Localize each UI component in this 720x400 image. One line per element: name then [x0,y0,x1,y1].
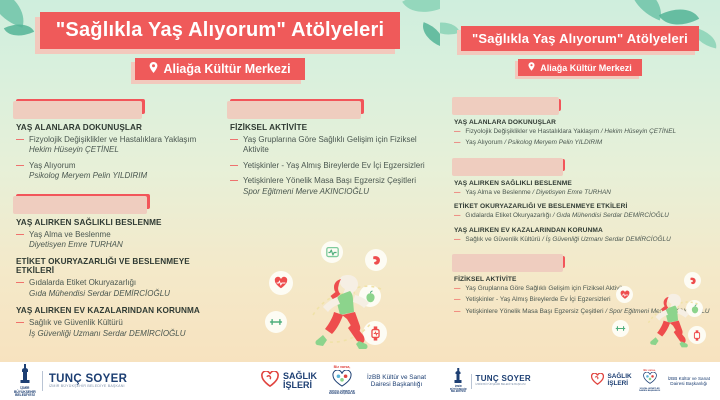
session-item: —Gıdalarda Etiket OkuryazarlığıGıda Mühe… [16,278,222,299]
session-topic: Yaş Alma ve Beslenme [465,189,530,196]
session-topic: Gıdalarda Etiket Okuryazarlığı [465,212,551,219]
poster-narrow-footer: İZMİR BÜYÜKŞEHİR BELEDİYESİ TUNÇ SOYER İ… [440,362,720,400]
session-item-body: Fizyolojik Değişiklikler ve Hastalıklara… [465,128,676,136]
session-title: ETİKET OKURYAZARLIĞI VE BESLENMEYE ETKİL… [454,203,712,210]
poster-wide: "Sağlıkla Yaş Alıyorum" Atölyeleri Aliağ… [0,0,440,400]
bullet-dash-icon: — [454,285,460,293]
location-pin-icon [149,62,158,76]
session-speaker: Spor Eğitmeni Merve AKINCIOĞLU [243,187,416,197]
kultur-line-2: Dairesi Başkanlığı [367,381,426,388]
poster-wide-title-block: "Sağlıkla Yaş Alıyorum" Atölyeleri Aliağ… [0,12,440,80]
session-speaker: İş Güvenliği Uzmanı Serdar DEMİRCİOĞLU [29,329,186,339]
session-item: —Fizyolojik Değişiklikler ve Hastalıklar… [16,135,222,156]
session-title: ETİKET OKURYAZARLIĞI VE BESLENMEYE ETKİL… [16,257,222,275]
session-topic: Yaş Alıyorum [29,161,76,170]
running-woman-illustration [255,245,440,357]
session-item-body: Yaş Alma ve Beslenme / Diyetisyen Emre T… [465,189,611,197]
session-topic: Sağlık ve Güvenlik Kültürü [465,236,540,243]
poster-pair-canvas: "Sağlıkla Yaş Alıyorum" Atölyeleri Aliağ… [0,0,720,400]
poster-title: "Sağlıkla Yaş Alıyorum" Atölyeleri [40,12,401,49]
schedule-block: 19 Aralık Salı13.30FİZİKSEL AKTİVİTE—Yaş… [230,92,440,197]
session-title: YAŞ ALIRKEN SAĞLIKLI BESLENME [454,180,712,187]
venue-label: Aliağa Kültür Merkezi [163,62,290,76]
schedule-block: 5 Aralık Salı13.30YAŞ ALANLARA DOKUNUŞLA… [454,90,712,148]
saglik-line-2: İŞLERİ [607,381,631,388]
session-item: —Yetişkinlere Yönelik Masa Başı Egzersiz… [230,176,440,197]
session-item: —Yaş Alma ve Beslenme / Diyetisyen Emre … [454,189,712,197]
bullet-dash-icon: — [454,128,460,136]
date-badge-shadow [452,158,563,176]
session-item-body: Fizyolojik Değişiklikler ve Hastalıklara… [29,135,196,156]
mayor-block: TUNÇ SOYER İZMİR BÜYÜKŞEHİR BELEDİYE BAŞ… [476,375,531,386]
clock-tower-icon [20,364,29,386]
session-item-body: Yetişkinlere Yönelik Masa Başı Egzersiz … [243,176,416,197]
session-speaker: / Diyetisyen Emre TURHAN [531,189,611,196]
session-topic: Yaş Gruplarına Göre Sağlıklı Gelişim içi… [465,285,626,292]
poster-wide-column-1: 5 Aralık Salı13.30YAŞ ALANLARA DOKUNUŞLA… [0,92,222,344]
session-item-body: Yaş Alma ve BeslenmeDiyetisyen Emre TURH… [29,230,123,251]
heart-outline-icon [261,371,279,392]
sosyal-hizmetler-logo: Biz varsa, SOSYAL HİZMETLER DAİRESİ BAŞK… [637,370,663,393]
hands-heart-icon [331,370,353,387]
poster-venue: Aliağa Kültür Merkezi [135,58,304,80]
kultur-sanat-logo: İzBB Kültür ve Sanat Dairesi Başkanlığı [668,376,710,387]
session-topic: Yetişkinlere Yönelik Masa Başı Egzersiz … [465,308,603,315]
schedule-block: 12 Aralık Salı13.30YAŞ ALIRKEN SAĞLIKLI … [16,187,222,339]
session-item: —Yaş AlıyorumPsikolog Meryem Pelin YILDI… [16,161,222,182]
mayor-title: İZMİR BÜYÜKŞEHİR BELEDİYE BAŞKANI [49,385,127,389]
izmir-municipality-logo: İZMİR BÜYÜKŞEHİR BELEDİYESİ TUNÇ SOYER İ… [14,364,127,397]
session-speaker: / İş Güvenliği Uzmanı Serdar DEMİRCİOĞLU [540,236,670,243]
session-topic: Yaş Alma ve Beslenme [29,230,111,239]
running-woman-illustration [612,272,720,358]
session-item-body: Yetişkinler - Yaş Almış Bireylerde Ev İç… [243,161,425,171]
session-item-body: Gıdalarda Etiket OkuryazarlığıGıda Mühen… [29,278,170,299]
session-item: —Yaş Alma ve BeslenmeDiyetisyen Emre TUR… [16,230,222,251]
session-speaker: / Gıda Mühendisi Serdar DEMİRCİOĞLU [551,212,669,219]
session-title: YAŞ ALIRKEN SAĞLIKLI BESLENME [16,218,222,227]
schedule-block: 12 Aralık Salı13.30YAŞ ALIRKEN SAĞLIKLI … [454,151,712,244]
bullet-dash-icon: — [230,176,238,197]
venue-label: Aliağa Kültür Merkezi [540,63,632,73]
session-topic: Yaş Gruplarına Göre Sağlıklı Gelişim içi… [243,135,417,154]
sosyal-hizmetler-logo: Biz varsa, SOSYAL HİZMETLER DAİRESİ BAŞK… [325,366,359,396]
runner-figure [293,253,401,361]
session-item: —Sağlık ve Güvenlik Kültürü / İş Güvenli… [454,236,712,244]
session-item-body: Yetişkinler - Yaş Almış Bireylerde Ev İç… [465,296,610,304]
session-speaker: Hekim Hüseyin ÇETİNEL [29,145,196,155]
dumbbell-icon [265,311,287,333]
session-item-body: Yaş Gruplarına Göre Sağlıklı Gelişim içi… [465,285,626,293]
bullet-dash-icon: — [454,308,460,316]
session-speaker: Gıda Mühendisi Serdar DEMİRCİOĞLU [29,289,170,299]
session-topic: Yetişkinler - Yaş Almış Bireylerde Ev İç… [243,161,425,170]
session-topic: Fizyolojik Değişiklikler ve Hastalıklara… [29,135,196,144]
bullet-dash-icon: — [454,212,460,220]
session-item: —Yetişkinler - Yaş Almış Bireylerde Ev İ… [230,161,440,171]
footer-divider [471,374,472,389]
bullet-dash-icon: — [454,236,460,244]
date-badge-shadow [227,101,361,119]
session-title: YAŞ ALANLARA DOKUNUŞLAR [454,119,712,126]
bullet-dash-icon: — [230,161,238,171]
session-speaker: / Psikolog Meryem Pelin YILDIRIM [503,139,603,146]
kultur-line-1: İzBB Kültür ve Sanat [367,374,426,381]
session-topic: Yetişkinler - Yaş Almış Bireylerde Ev İç… [465,296,610,303]
session-item: —Yaş Alıyorum / Psikolog Meryem Pelin YI… [454,139,712,147]
session-item: —Gıdalarda Etiket Okuryazarlığı / Gıda M… [454,212,712,220]
session-item-body: Sağlık ve Güvenlik Kültürüİş Güvenliği U… [29,318,186,339]
saglik-line-2: İŞLERİ [283,381,317,390]
runner-figure [634,278,712,356]
bullet-dash-icon: — [454,139,460,147]
bullet-dash-icon: — [230,135,238,156]
dumbbell-icon [612,320,629,337]
session-item-body: Yaş AlıyorumPsikolog Meryem Pelin YILDIR… [29,161,147,182]
schedule-block: 5 Aralık Salı13.30YAŞ ALANLARA DOKUNUŞLA… [16,92,222,182]
muni-line-3: BELEDİYESİ [450,391,467,394]
mayor-block: TUNÇ SOYER İZMİR BÜYÜKŞEHİR BELEDİYE BAŞ… [49,373,127,389]
mayor-title: İZMİR BÜYÜKŞEHİR BELEDİYE BAŞKANI [476,384,531,387]
session-item-body: Gıdalarda Etiket Okuryazarlığı / Gıda Mü… [465,212,669,220]
session-item: —Yaş Gruplarına Göre Sağlıklı Gelişim iç… [230,135,440,156]
session-topic: Yaş Alıyorum [465,139,502,146]
poster-narrow: "Sağlıkla Yaş Alıyorum" Atölyeleri Aliağ… [440,0,720,400]
bullet-dash-icon: — [16,318,24,339]
hands-heart-icon [642,372,658,384]
poster-venue: Aliağa Kültür Merkezi [518,59,642,76]
session-item: —Fizyolojik Değişiklikler ve Hastalıklar… [454,128,712,136]
session-topic: Yetişkinlere Yönelik Masa Başı Egzersiz … [243,176,416,185]
date-badge-shadow [452,97,559,115]
date-badge-shadow [452,254,563,272]
location-pin-icon [528,62,535,73]
bullet-dash-icon: — [454,296,460,304]
session-speaker: / Hekim Hüseyin ÇETİNEL [599,128,676,135]
session-title: YAŞ ALANLARA DOKUNUŞLAR [16,123,222,132]
poster-title: "Sağlıkla Yaş Alıyorum" Atölyeleri [461,26,699,51]
footer-divider [42,371,43,391]
session-title: YAŞ ALIRKEN EV KAZALARINDAN KORUNMA [454,227,712,234]
date-badge-shadow [13,196,147,214]
heart-icon [616,286,633,303]
footer-partner-logos: SAĞLIK İŞLERİ Biz varsa, SOSYAL HİZMETLE… [591,370,710,393]
session-item-body: Yaş Alıyorum / Psikolog Meryem Pelin YIL… [465,139,602,147]
sosyal-bottom-text: SOSYAL HİZMETLER DAİRESİ BAŞKANLIĞI [325,391,359,396]
kultur-line-2: Dairesi Başkanlığı [668,381,710,386]
heart-icon [269,271,293,295]
session-title: YAŞ ALIRKEN EV KAZALARINDAN KORUNMA [16,306,222,315]
session-speaker: Psikolog Meryem Pelin YILDIRIM [29,171,147,181]
session-topic: Sağlık ve Güvenlik Kültürü [29,318,123,327]
saglik-isleri-logo: SAĞLIK İŞLERİ [261,371,317,392]
heart-outline-icon [591,372,604,390]
clock-tower-icon [455,368,462,385]
session-title: FİZİKSEL AKTİVİTE [230,123,440,132]
muni-line-3: BELEDİYESİ [14,394,36,397]
session-speaker: Diyetisyen Emre TURHAN [29,240,123,250]
footer-partner-logos: SAĞLIK İŞLERİ Biz varsa, SOSYAL HİZMETLE… [261,366,426,396]
bullet-dash-icon: — [454,189,460,197]
session-topic: Fizyolojik Değişiklikler ve Hastalıklara… [465,128,599,135]
session-item-body: Sağlık ve Güvenlik Kültürü / İş Güvenliğ… [465,236,670,244]
session-item: —Sağlık ve Güvenlik Kültürüİş Güvenliği … [16,318,222,339]
date-badge-shadow [13,101,142,119]
bullet-dash-icon: — [16,161,24,182]
poster-narrow-title-block: "Sağlıkla Yaş Alıyorum" Atölyeleri Aliağ… [440,26,720,76]
kultur-sanat-logo: İzBB Kültür ve Sanat Dairesi Başkanlığı [367,374,426,389]
izmir-municipality-logo: İZMİR BÜYÜKŞEHİR BELEDİYESİ TUNÇ SOYER İ… [450,368,531,394]
session-item-body: Yaş Gruplarına Göre Sağlıklı Gelişim içi… [243,135,440,156]
bullet-dash-icon: — [16,278,24,299]
session-topic: Gıdalarda Etiket Okuryazarlığı [29,278,136,287]
saglik-isleri-logo: SAĞLIK İŞLERİ [591,372,631,390]
poster-wide-footer: İZMİR BÜYÜKŞEHİR BELEDİYESİ TUNÇ SOYER İ… [0,362,440,400]
sosyal-bottom-text: SOSYAL HİZMETLER DAİRESİ BAŞKANLIĞI [637,388,663,392]
bullet-dash-icon: — [16,135,24,156]
bullet-dash-icon: — [16,230,24,251]
